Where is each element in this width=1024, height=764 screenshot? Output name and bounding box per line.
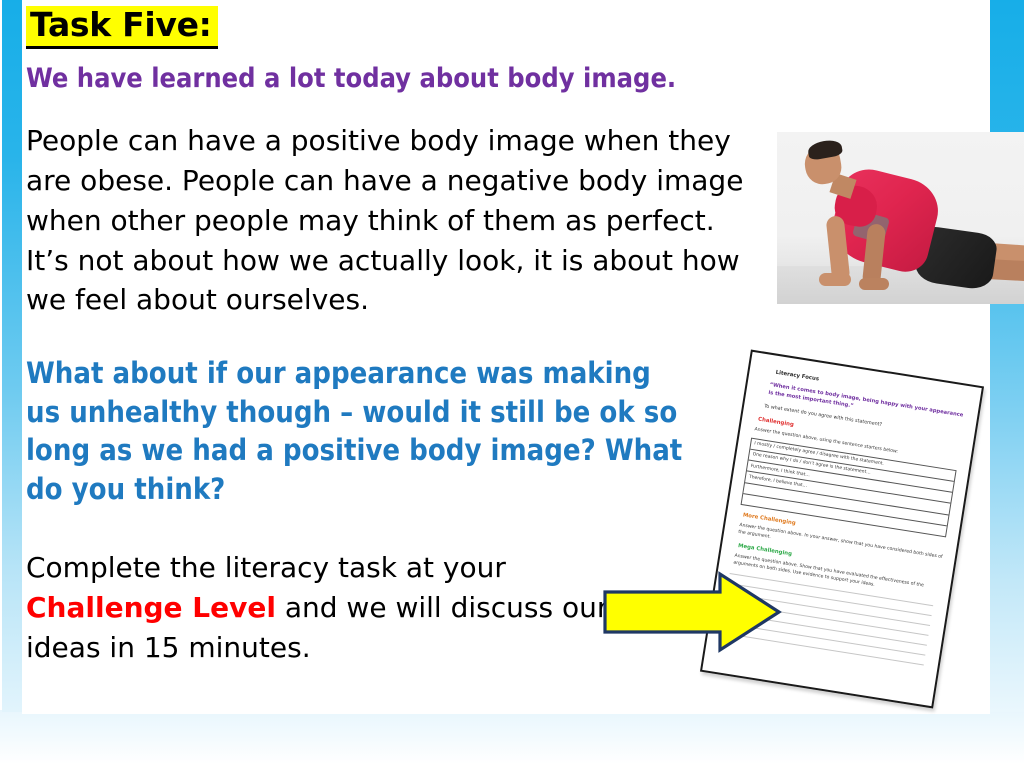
bottom-background-band [0, 710, 1024, 764]
left-blue-accent-bar [2, 0, 22, 712]
instruction-before: Complete the literacy task at your [26, 551, 506, 584]
photo-hand-front [819, 273, 851, 286]
body-paragraph: People can have a positive body image wh… [26, 121, 766, 320]
lead-statement: We have learned a lot today about body i… [26, 63, 786, 95]
pushup-photo [777, 132, 1024, 304]
page-title: Task Five: [26, 6, 786, 49]
slide-text-content: Task Five: We have learned a lot today a… [26, 0, 786, 668]
yellow-arrow [602, 570, 782, 654]
slide-canvas: Task Five: We have learned a lot today a… [0, 0, 1024, 764]
right-blue-accent-bar [990, 0, 1024, 712]
arrow-right-icon [602, 570, 782, 654]
worksheet-thumbnail: Literacy Focus “When it comes to body im… [718, 366, 978, 706]
discussion-question: What about if our appearance was making … [26, 354, 686, 508]
challenge-level-emphasis: Challenge Level [26, 591, 276, 624]
page-title-text: Task Five: [26, 6, 218, 49]
photo-hand-back [859, 278, 889, 290]
worksheet-page: Literacy Focus “When it comes to body im… [700, 350, 984, 709]
instruction-paragraph: Complete the literacy task at your Chall… [26, 548, 646, 667]
